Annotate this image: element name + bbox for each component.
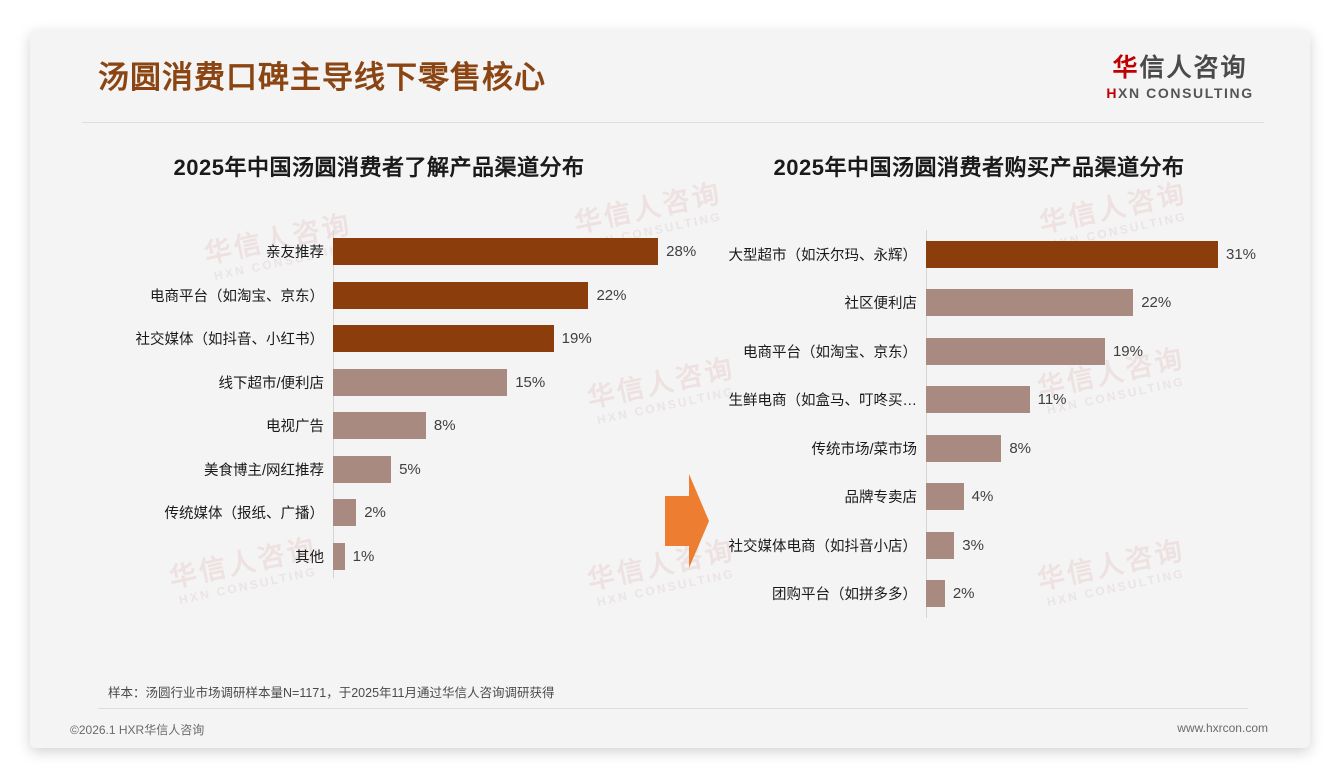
chart-bar-row: 传统市场/菜市场8%: [680, 424, 1280, 473]
chart-bar-row: 亲友推荐28%: [75, 230, 675, 274]
chart-value-label: 3%: [962, 537, 984, 554]
chart-category-label: 电商平台（如淘宝、京东）: [680, 341, 926, 362]
chart-bar: [333, 412, 426, 439]
chart-bar-wrapper: 22%: [333, 282, 675, 309]
slide-card: 汤圆消费口碑主导线下零售核心 华信人咨询 HXN CONSULTING 华信人咨…: [30, 30, 1310, 748]
chart-bar-row: 电商平台（如淘宝、京东）22%: [75, 274, 675, 318]
logo-english-text: HXN CONSULTING: [1090, 85, 1270, 101]
chart-bar: [333, 282, 588, 309]
chart-bar-row: 社区便利店22%: [680, 279, 1280, 328]
chart-value-label: 8%: [434, 417, 456, 434]
chart-category-label: 品牌专卖店: [680, 486, 926, 507]
chart-bar-row: 电视广告8%: [75, 404, 675, 448]
chart-bar-wrapper: 5%: [333, 456, 675, 483]
chart-category-label: 美食博主/网红推荐: [75, 459, 333, 480]
chart-bar: [926, 386, 1030, 413]
chart-bar-wrapper: 1%: [333, 543, 675, 570]
chart-bar-wrapper: 8%: [333, 412, 675, 439]
chart-bar-row: 社交媒体电商（如抖音小店）3%: [680, 521, 1280, 570]
logo-en-rest: XN CONSULTING: [1118, 85, 1254, 101]
header-divider: [82, 122, 1264, 123]
chart-bar-row: 生鲜电商（如盒马、叮咚买…11%: [680, 376, 1280, 425]
chart-bar: [333, 369, 507, 396]
chart-value-label: 8%: [1009, 440, 1031, 457]
chart-bar-wrapper: 28%: [333, 238, 696, 265]
page-title: 汤圆消费口碑主导线下零售核心: [98, 52, 546, 97]
chart-bar-row: 大型超市（如沃尔玛、永辉）31%: [680, 230, 1280, 279]
chart-bar: [333, 543, 345, 570]
chart-value-label: 5%: [399, 461, 421, 478]
logo-cn-highlight: 华: [1112, 54, 1139, 82]
chart-bar-wrapper: 22%: [926, 289, 1280, 316]
chart-bar-wrapper: 2%: [926, 580, 1280, 607]
chart-bar: [333, 499, 356, 526]
chart-value-label: 11%: [1038, 391, 1067, 408]
chart-bar-wrapper: 31%: [926, 241, 1280, 268]
chart-category-label: 电商平台（如淘宝、京东）: [75, 285, 333, 306]
chart-plot-area: 大型超市（如沃尔玛、永辉）31%社区便利店22%电商平台（如淘宝、京东）19%生…: [680, 230, 1280, 618]
logo-cn-rest: 信人咨询: [1140, 54, 1248, 82]
chart-category-label: 传统市场/菜市场: [680, 438, 926, 459]
chart-bar: [926, 580, 945, 607]
chart-bar-wrapper: 3%: [926, 532, 1280, 559]
chart-category-label: 生鲜电商（如盒马、叮咚买…: [680, 389, 926, 410]
chart-bar: [926, 338, 1105, 365]
chart-bar-wrapper: 19%: [926, 338, 1280, 365]
logo-en-highlight: H: [1106, 85, 1118, 101]
chart-bar: [333, 238, 658, 265]
chart-bar: [333, 325, 554, 352]
slide-header: 汤圆消费口碑主导线下零售核心 华信人咨询 HXN CONSULTING: [30, 30, 1310, 122]
chart-bar-row: 其他1%: [75, 535, 675, 579]
chart-category-label: 大型超市（如沃尔玛、永辉）: [680, 244, 926, 265]
chart-bar-row: 品牌专卖店4%: [680, 473, 1280, 522]
footer-url[interactable]: www.hxrcon.com: [1177, 721, 1268, 735]
chart-value-label: 19%: [562, 330, 592, 347]
chart-category-label: 团购平台（如拼多多）: [680, 583, 926, 604]
chart-bar-row: 美食博主/网红推荐5%: [75, 448, 675, 492]
chart-category-label: 社区便利店: [680, 292, 926, 313]
chart-value-label: 19%: [1113, 343, 1143, 360]
chart-category-label: 其他: [75, 546, 333, 567]
chart-bar-wrapper: 11%: [926, 386, 1280, 413]
logo-chinese-text: 华信人咨询: [1090, 55, 1270, 83]
chart-value-label: 1%: [353, 548, 375, 565]
chart-value-label: 22%: [1141, 294, 1171, 311]
chart-bar: [926, 289, 1133, 316]
chart-bar: [926, 435, 1001, 462]
chart-bar: [926, 241, 1218, 268]
chart-bar: [926, 483, 964, 510]
chart-bar-row: 传统媒体（报纸、广播）2%: [75, 491, 675, 535]
chart-title: 2025年中国汤圆消费者购买产品渠道分布: [678, 150, 1280, 182]
chart-value-label: 15%: [515, 374, 545, 391]
chart-value-label: 22%: [596, 287, 626, 304]
chart-bar-row: 团购平台（如拼多多）2%: [680, 570, 1280, 619]
chart-category-label: 亲友推荐: [75, 241, 333, 262]
chart-category-label: 社交媒体电商（如抖音小店）: [680, 535, 926, 556]
chart-title: 2025年中国汤圆消费者了解产品渠道分布: [83, 150, 675, 182]
chart-value-label: 2%: [364, 504, 386, 521]
chart-bar-row: 社交媒体（如抖音、小红书）19%: [75, 317, 675, 361]
chart-purchase-channels: 2025年中国汤圆消费者购买产品渠道分布 大型超市（如沃尔玛、永辉）31%社区便…: [680, 150, 1280, 618]
slide-footer: ©2026.1 HXR华信人咨询 www.hxrcon.com: [30, 709, 1310, 748]
chart-bar-wrapper: 15%: [333, 369, 675, 396]
chart-value-label: 31%: [1226, 246, 1256, 263]
chart-bar-row: 电商平台（如淘宝、京东）19%: [680, 327, 1280, 376]
chart-awareness-channels: 2025年中国汤圆消费者了解产品渠道分布 亲友推荐28%电商平台（如淘宝、京东）…: [75, 150, 675, 578]
chart-category-label: 传统媒体（报纸、广播）: [75, 502, 333, 523]
chart-category-label: 线下超市/便利店: [75, 372, 333, 393]
chart-bar-wrapper: 2%: [333, 499, 675, 526]
chart-value-label: 4%: [972, 488, 994, 505]
chart-category-label: 电视广告: [75, 415, 333, 436]
chart-plot-area: 亲友推荐28%电商平台（如淘宝、京东）22%社交媒体（如抖音、小红书）19%线下…: [75, 230, 675, 578]
chart-category-label: 社交媒体（如抖音、小红书）: [75, 328, 333, 349]
chart-value-label: 2%: [953, 585, 975, 602]
chart-bar-row: 线下超市/便利店15%: [75, 361, 675, 405]
chart-bar-wrapper: 8%: [926, 435, 1280, 462]
company-logo: 华信人咨询 HXN CONSULTING: [1090, 55, 1270, 101]
chart-bar: [333, 456, 391, 483]
footer-copyright: ©2026.1 HXR华信人咨询: [70, 721, 204, 738]
sample-footnote: 样本：汤圆行业市场调研样本量N=1171，于2025年11月通过华信人咨询调研获…: [108, 682, 555, 701]
chart-bar-wrapper: 4%: [926, 483, 1280, 510]
chart-bar: [926, 532, 954, 559]
chart-bar-wrapper: 19%: [333, 325, 675, 352]
